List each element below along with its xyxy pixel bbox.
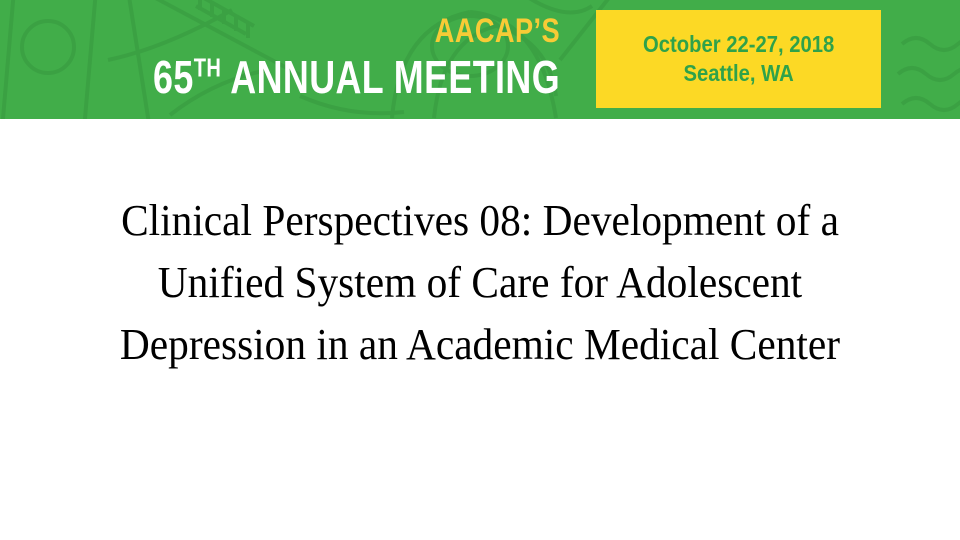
date-location-box: October 22-27, 2018 Seattle, WA bbox=[596, 10, 881, 108]
slide-title: Clinical Perspectives 08: Development of… bbox=[74, 190, 886, 376]
meeting-name: 65TH ANNUAL MEETING bbox=[123, 54, 560, 100]
conference-header-banner: AACAP’S 65TH ANNUAL MEETING October 22-2… bbox=[0, 0, 960, 119]
meeting-ordinal-number: 65 bbox=[153, 51, 194, 103]
presentation-slide: AACAP’S 65TH ANNUAL MEETING October 22-2… bbox=[0, 0, 960, 540]
brand-name: AACAP’S bbox=[112, 14, 560, 48]
conference-location: Seattle, WA bbox=[683, 59, 793, 88]
meeting-name-rest: ANNUAL MEETING bbox=[221, 51, 560, 103]
slide-title-area: Clinical Perspectives 08: Development of… bbox=[48, 190, 912, 376]
conference-branding: AACAP’S 65TH ANNUAL MEETING bbox=[0, 14, 560, 100]
conference-dates: October 22-27, 2018 bbox=[643, 30, 834, 59]
meeting-ordinal-suffix: TH bbox=[194, 55, 222, 83]
